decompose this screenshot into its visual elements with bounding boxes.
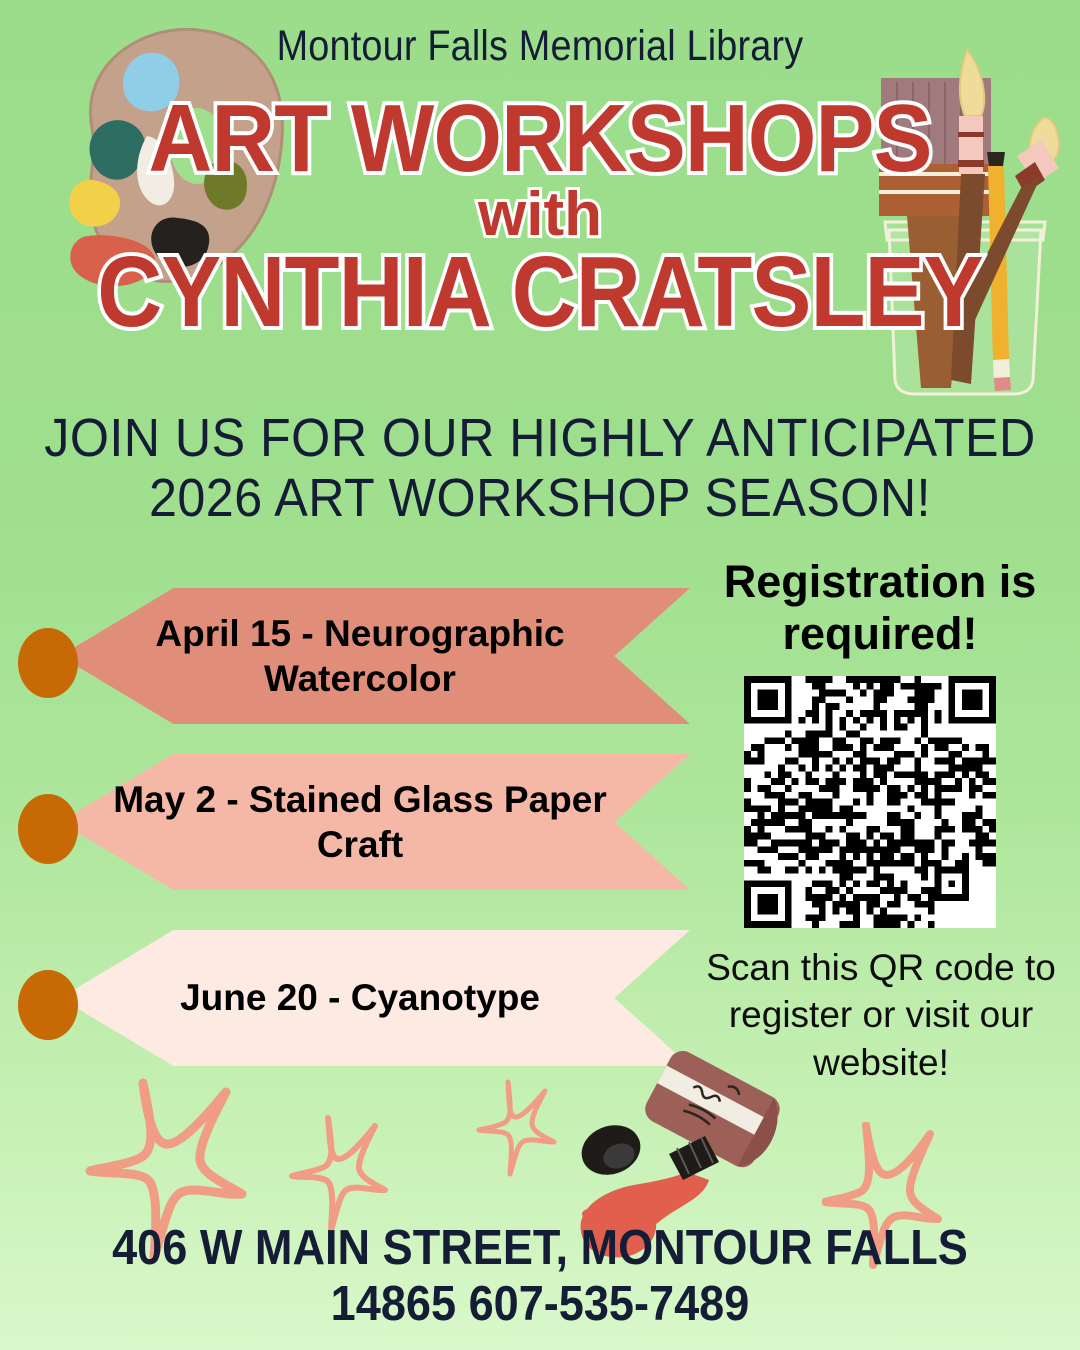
workshop-label-3: June 20 - Cyanotype xyxy=(90,930,630,1066)
workshop-banner-2[interactable]: May 2 - Stained Glass Paper Craft xyxy=(0,754,700,890)
subtitle-line-2: 2026 ART WORKSHOP SEASON! xyxy=(38,468,1042,528)
banner-bullet-dot xyxy=(18,794,78,864)
qr-code-graphic xyxy=(744,676,996,928)
banner-bullet-dot xyxy=(18,970,78,1040)
poster-canvas: Montour Falls Memorial Library ART WORKS… xyxy=(0,0,1080,1350)
footer-address: 406 W MAIN STREET, MONTOUR FALLS 14865 6… xyxy=(43,1220,1037,1332)
scan-instructions: Scan this QR code to register or visit o… xyxy=(690,944,1072,1086)
workshop-label-2: May 2 - Stained Glass Paper Craft xyxy=(90,754,630,890)
subtitle-line-1: JOIN US FOR OUR HIGHLY ANTICIPATED xyxy=(38,408,1042,468)
registration-heading: Registration is required! xyxy=(690,556,1070,660)
title-block: ART WORKSHOPS with CYNTHIA CRATSLEY xyxy=(0,92,1080,342)
poster-title-artist: CYNTHIA CRATSLEY xyxy=(54,242,1026,342)
poster-subtitle: JOIN US FOR OUR HIGHLY ANTICIPATED 2026 … xyxy=(38,408,1042,529)
workshop-banner-1[interactable]: April 15 - Neurographic Watercolor xyxy=(0,588,700,724)
workshop-banner-3[interactable]: June 20 - Cyanotype xyxy=(0,930,700,1066)
poster-title-main: ART WORKSHOPS xyxy=(43,92,1037,186)
banner-bullet-dot xyxy=(18,628,78,698)
qr-code[interactable] xyxy=(744,676,996,928)
organization-name: Montour Falls Memorial Library xyxy=(65,22,1015,71)
workshop-label-1: April 15 - Neurographic Watercolor xyxy=(90,588,630,724)
